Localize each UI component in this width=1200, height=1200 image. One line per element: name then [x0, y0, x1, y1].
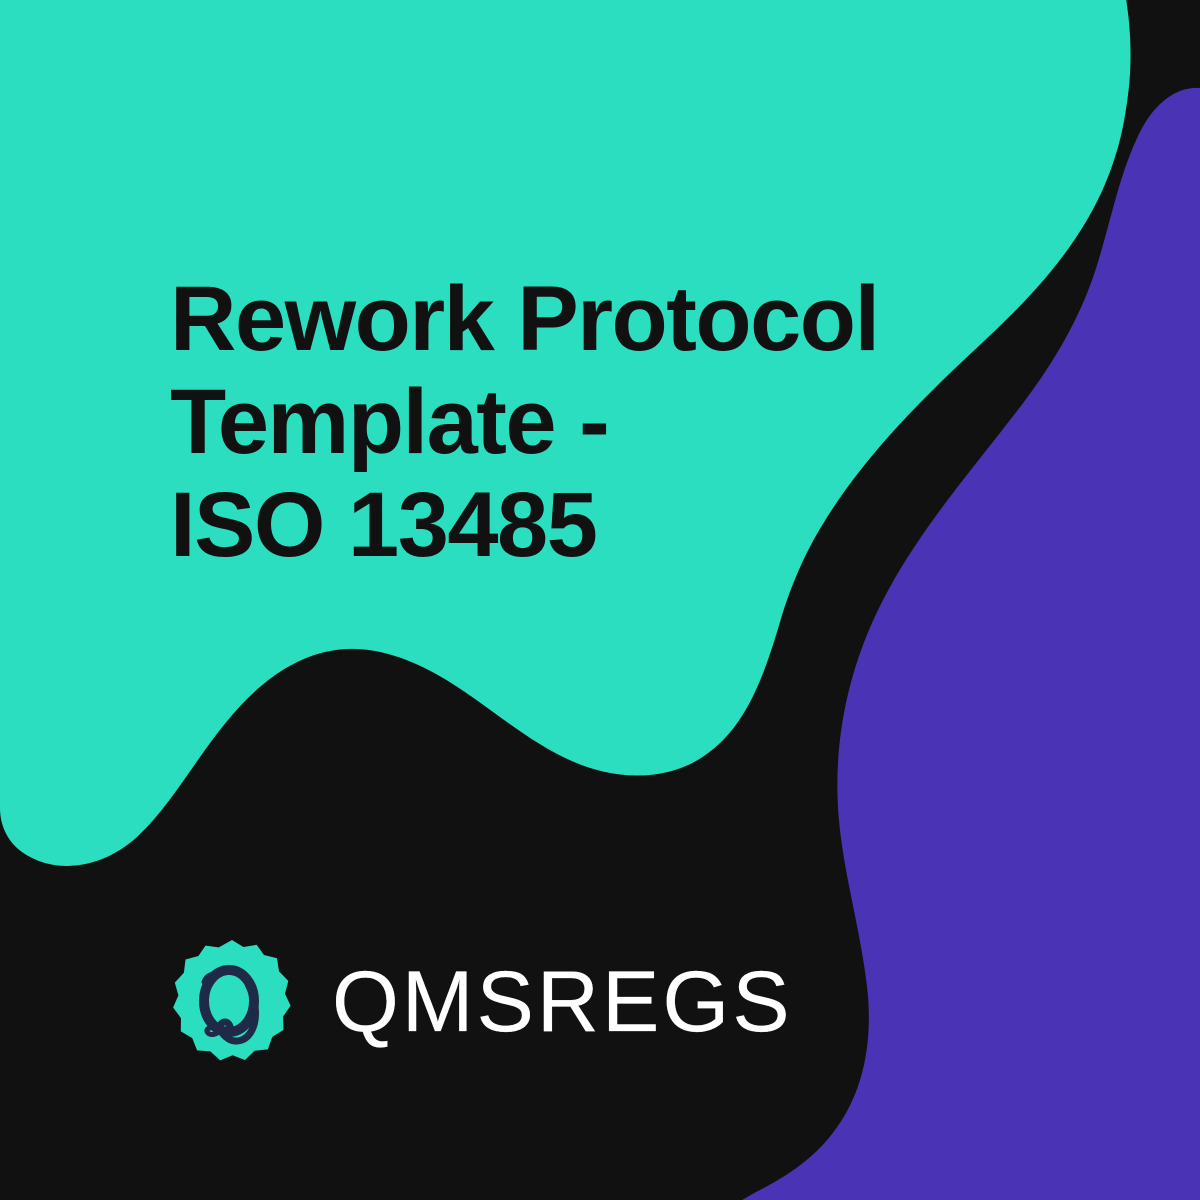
scalloped-seal-q-icon: [168, 938, 296, 1066]
title-block: Rework Protocol Template - ISO 13485: [170, 268, 930, 577]
brand-wordmark: QMSREGS: [332, 959, 793, 1045]
poster-canvas: Rework Protocol Template - ISO 13485 QMS…: [0, 0, 1200, 1200]
page-title: Rework Protocol Template - ISO 13485: [170, 268, 930, 577]
brand-lockup[interactable]: QMSREGS: [168, 938, 793, 1066]
